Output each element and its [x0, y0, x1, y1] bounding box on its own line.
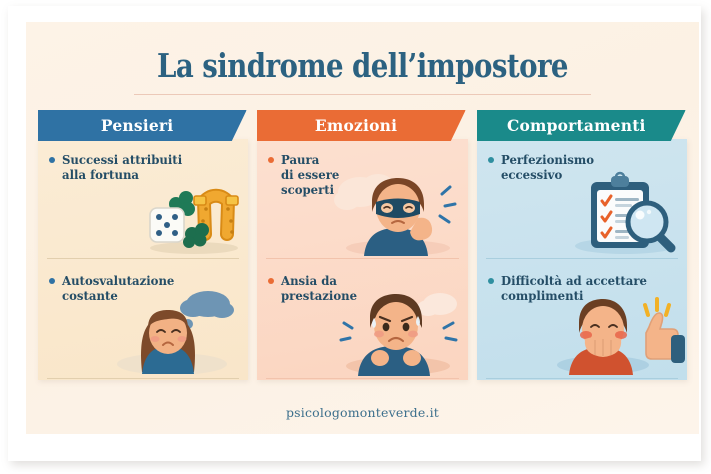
dice-horseshoe-clover-icon — [136, 178, 244, 256]
list-item-label: Successi attribuiti alla fortuna — [62, 152, 182, 182]
item-separator — [486, 258, 678, 259]
list-item: Autosvalutazione costante — [38, 260, 248, 381]
bullet-icon — [49, 278, 55, 284]
list-item-label: Difficoltà ad accettare complimenti — [501, 273, 647, 303]
item-separator — [47, 258, 239, 259]
column-header-pensieri[interactable]: Pensieri — [38, 110, 247, 141]
list-item-label: Perfezionismo eccessivo — [501, 152, 594, 182]
item-separator — [266, 258, 458, 259]
column-comportamenti: Comportamenti Perfezionismo eccessivo — [477, 110, 687, 380]
bullet-icon — [268, 278, 274, 284]
column-header-comportamenti[interactable]: Comportamenti — [477, 110, 686, 141]
clipboard-checklist-magnifier-icon — [569, 170, 681, 256]
columns-container: Pensieri Successi attribuiti alla fortun… — [38, 110, 687, 380]
list-item: Paura di essere scoperti — [257, 139, 467, 260]
list-item: Successi attribuiti alla fortuna — [38, 139, 248, 260]
bullet-icon — [488, 278, 494, 284]
list-item-label: Autosvalutazione costante — [62, 273, 174, 303]
list-item-label: Paura di essere scoperti — [281, 152, 339, 197]
infographic-page: La sindrome dell’impostore Pensieri Succ… — [0, 0, 711, 474]
item-separator — [486, 378, 678, 379]
item-separator — [47, 378, 239, 379]
embarrassed-person-thumbs-up-icon — [545, 291, 685, 375]
item-separator — [266, 378, 458, 379]
column-header-emozioni[interactable]: Emozioni — [257, 110, 466, 141]
column-card-pensieri: Successi attribuiti alla fortuna — [38, 139, 248, 380]
bullet-icon — [488, 157, 494, 163]
column-card-comportamenti: Perfezionismo eccessivo — [477, 139, 687, 380]
bullet-icon — [49, 157, 55, 163]
poster-canvas: La sindrome dell’impostore Pensieri Succ… — [26, 22, 699, 434]
column-emozioni: Emozioni Paura di essere scoperti — [257, 110, 467, 380]
poster-frame: La sindrome dell’impostore Pensieri Succ… — [8, 6, 701, 461]
column-pensieri: Pensieri Successi attribuiti alla fortun… — [38, 110, 248, 380]
footer-website[interactable]: psicologomonteverde.it — [26, 405, 699, 420]
list-item: Difficoltà ad accettare complimenti — [477, 260, 687, 381]
column-header-label: Pensieri — [101, 116, 173, 135]
column-header-label: Comportamenti — [506, 116, 645, 135]
title-divider — [134, 94, 591, 95]
list-item: Perfezionismo eccessivo — [477, 139, 687, 260]
list-item-label: Ansia da prestazione — [281, 273, 357, 303]
column-card-emozioni: Paura di essere scoperti — [257, 139, 467, 380]
bullet-icon — [268, 157, 274, 163]
column-header-label: Emozioni — [315, 116, 397, 135]
page-title: La sindrome dell’impostore — [50, 46, 676, 85]
list-item: Ansia da prestazione — [257, 260, 467, 381]
